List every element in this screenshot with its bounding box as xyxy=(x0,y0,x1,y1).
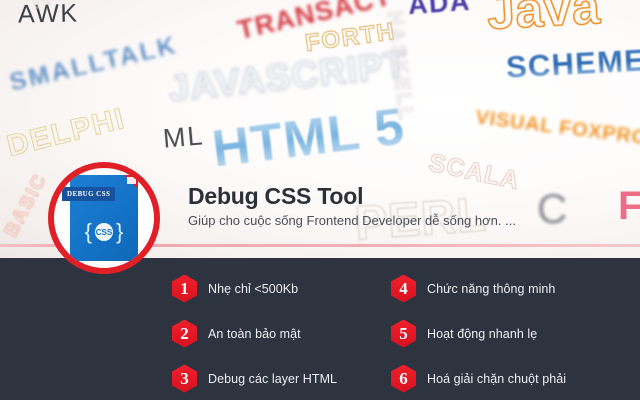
cloud-word: C xyxy=(537,188,568,230)
feature-item: 2An toàn bảo mật xyxy=(172,311,367,356)
feature-number-badge: 2 xyxy=(172,320,197,348)
page-subtitle: Giúp cho cuộc sống Frontend Developer dễ… xyxy=(188,213,516,229)
features-grid: 1Nhẹ chỉ <500Kb4Chức năng thông minh2An … xyxy=(172,266,586,400)
feature-item: 5Hoạt động nhanh lẹ xyxy=(391,311,586,356)
page-title: Debug CSS Tool xyxy=(188,183,516,209)
cloud-word: ADA xyxy=(407,0,471,19)
feature-number-badge: 1 xyxy=(172,275,197,303)
feature-label: Chức năng thông minh xyxy=(427,282,555,296)
document-icon: DEBUG CSS { CSS } xyxy=(70,175,138,261)
cloud-word: F xyxy=(618,186,640,226)
cloud-word: HTML 5 xyxy=(210,100,408,175)
promo-banner: AWKRUBYSMALLTALKDELPHIBASICJAVASCRIPTMLH… xyxy=(0,0,640,400)
feature-number-badge: 6 xyxy=(391,365,416,393)
brace-right: } xyxy=(116,219,123,245)
app-logo[interactable]: DEBUG CSS { CSS } xyxy=(48,162,160,274)
feature-label: An toàn bảo mật xyxy=(208,327,301,341)
feature-label: Hoạt động nhanh lẹ xyxy=(427,327,537,341)
cloud-word: JAVASCRIPT xyxy=(167,46,410,108)
feature-item: 6Hoá giải chặn chuột phải xyxy=(391,356,586,400)
brace-left: { xyxy=(85,219,92,245)
cloud-word: DELPHI xyxy=(4,104,128,162)
feature-number-badge: 4 xyxy=(391,275,416,303)
feature-item: 1Nhẹ chỉ <500Kb xyxy=(172,266,367,311)
cloud-word: SCHEME xyxy=(505,44,640,82)
cloud-word: VISUAL FOXPRO xyxy=(474,108,640,149)
feature-label: Debug các layer HTML xyxy=(208,372,337,386)
feature-number-badge: 5 xyxy=(391,320,416,348)
cloud-word: ML xyxy=(162,122,205,152)
code-braces-icon: { CSS } xyxy=(70,219,138,245)
css-badge-icon: CSS xyxy=(95,223,113,241)
cloud-word: SMALLTALK xyxy=(7,33,180,96)
logo-tag-label: DEBUG CSS xyxy=(62,187,115,201)
feature-number-badge: 3 xyxy=(172,365,197,393)
feature-label: Nhẹ chỉ <500Kb xyxy=(208,282,298,296)
feature-item: 4Chức năng thông minh xyxy=(391,266,586,311)
cloud-word: Java xyxy=(486,0,602,37)
features-section: 1Nhẹ chỉ <500Kb4Chức năng thông minh2An … xyxy=(0,258,640,400)
page-fold-highlight xyxy=(127,177,136,184)
cloud-word: BASIC xyxy=(2,171,51,241)
feature-label: Hoá giải chặn chuột phải xyxy=(427,372,566,386)
feature-item: 3Debug các layer HTML xyxy=(172,356,367,400)
hero-text-block: Debug CSS Tool Giúp cho cuộc sống Fronte… xyxy=(188,183,516,229)
